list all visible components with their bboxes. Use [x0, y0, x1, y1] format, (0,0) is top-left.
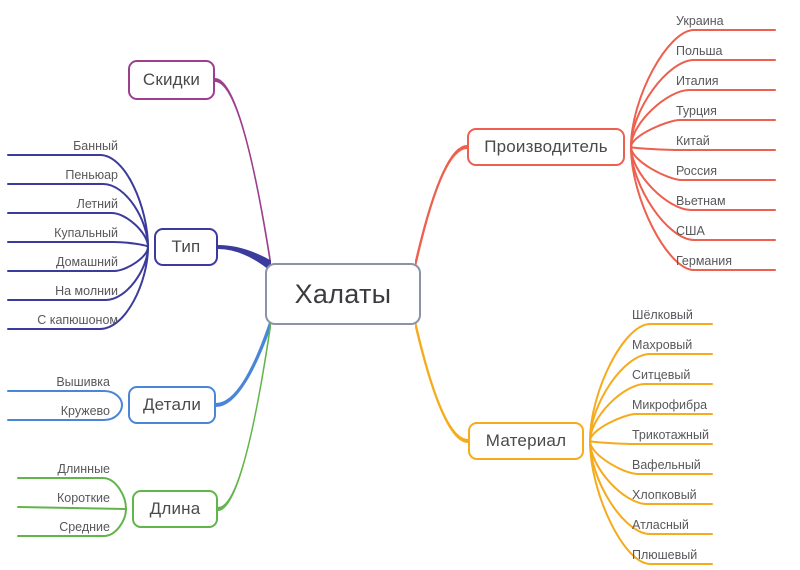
leaf-label[interactable]: Длинные [58, 462, 110, 476]
leaf-label[interactable]: Германия [676, 254, 732, 268]
leaf-label[interactable]: Вафельный [632, 458, 701, 472]
leaf-label[interactable]: Украина [676, 14, 724, 28]
leaf-label[interactable]: Банный [73, 139, 118, 153]
leaf-label[interactable]: С капюшоном [37, 313, 118, 327]
leaf-label[interactable]: Ситцевый [632, 368, 690, 382]
leaf-label[interactable]: На молнии [55, 284, 118, 298]
branch-node-label: Материал [486, 431, 566, 451]
branch-node-label: Детали [143, 395, 201, 415]
branch-node-proizvoditel[interactable]: Производитель [467, 128, 625, 166]
mindmap-canvas: Халаты СкидкиТипБанныйПеньюарЛетнийКупал… [0, 0, 800, 570]
branch-node-material[interactable]: Материал [468, 422, 584, 460]
branch-node-dlina[interactable]: Длина [132, 490, 218, 528]
branch-node-tip[interactable]: Тип [154, 228, 218, 266]
leaf-label[interactable]: Махровый [632, 338, 692, 352]
branch-node-label: Тип [172, 237, 201, 257]
leaf-label[interactable]: Италия [676, 74, 719, 88]
branch-node-label: Производитель [484, 137, 608, 157]
leaf-label[interactable]: Пеньюар [65, 168, 118, 182]
leaf-label[interactable]: Кружево [61, 404, 110, 418]
leaf-label[interactable]: Вышивка [56, 375, 110, 389]
leaf-label[interactable]: США [676, 224, 705, 238]
root-node[interactable]: Халаты [265, 263, 421, 325]
root-node-label: Халаты [295, 279, 392, 310]
branch-node-detali[interactable]: Детали [128, 386, 216, 424]
leaf-label[interactable]: Домашний [56, 255, 118, 269]
branch-node-label: Длина [150, 499, 201, 519]
leaf-label[interactable]: Трикотажный [632, 428, 709, 442]
leaf-label[interactable]: Россия [676, 164, 717, 178]
leaf-label[interactable]: Плюшевый [632, 548, 697, 562]
leaf-label[interactable]: Польша [676, 44, 722, 58]
leaf-label[interactable]: Шёлковый [632, 308, 693, 322]
leaf-label[interactable]: Короткие [57, 491, 110, 505]
leaf-label[interactable]: Атласный [632, 518, 689, 532]
leaf-label[interactable]: Вьетнам [676, 194, 726, 208]
leaf-label[interactable]: Китай [676, 134, 710, 148]
branch-node-skidki[interactable]: Скидки [128, 60, 215, 100]
leaf-label[interactable]: Турция [676, 104, 717, 118]
leaf-label[interactable]: Купальный [54, 226, 118, 240]
leaf-label[interactable]: Микрофибра [632, 398, 707, 412]
leaf-label[interactable]: Средние [59, 520, 110, 534]
leaf-label[interactable]: Хлопковый [632, 488, 697, 502]
branch-node-label: Скидки [143, 70, 200, 90]
leaf-label[interactable]: Летний [77, 197, 118, 211]
